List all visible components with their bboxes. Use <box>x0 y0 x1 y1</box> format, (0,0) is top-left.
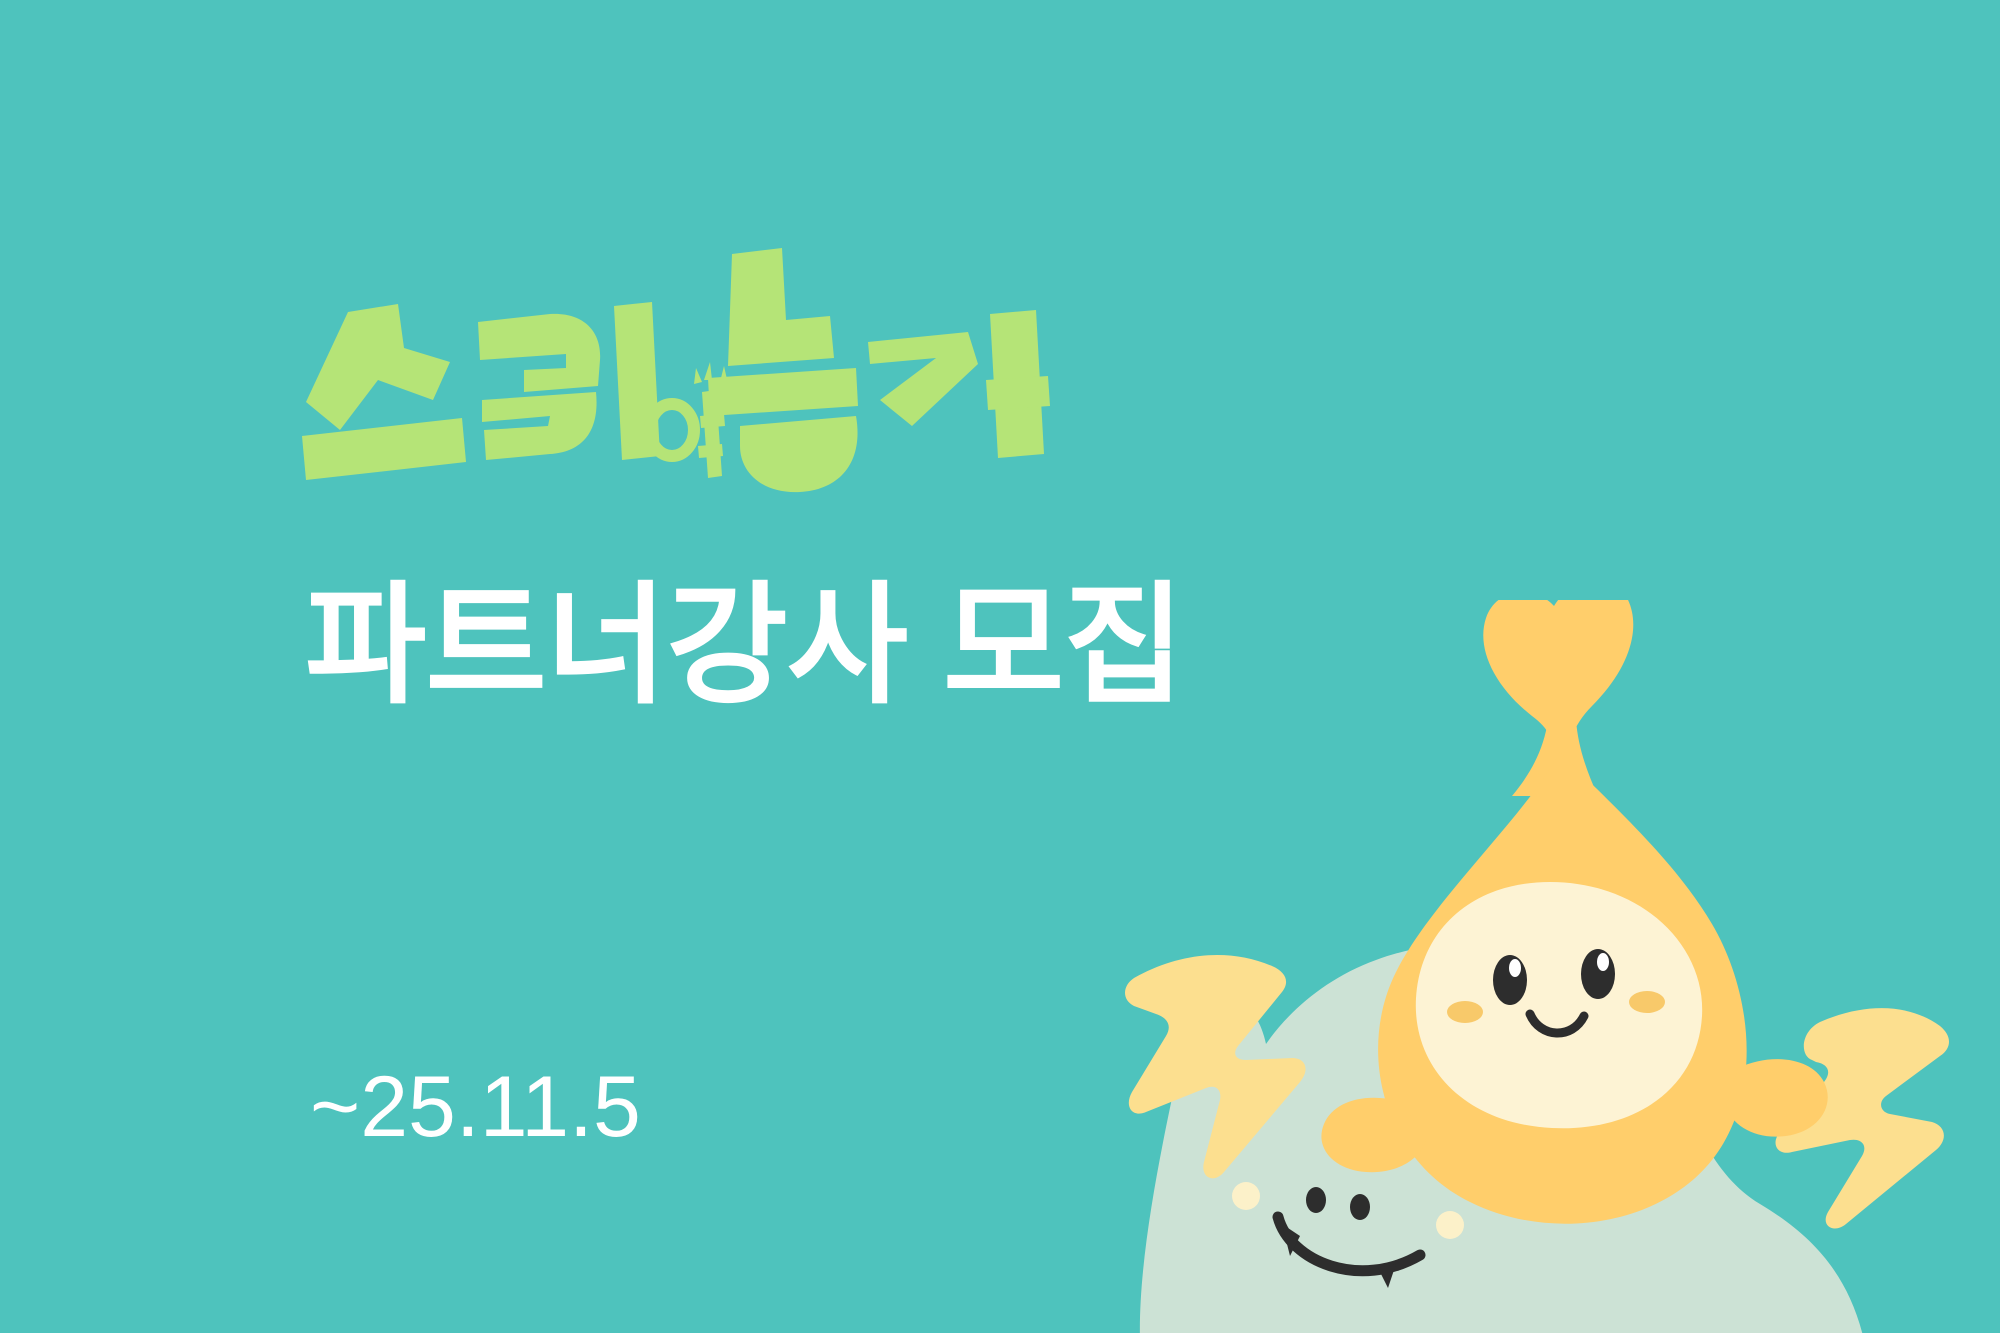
cheek <box>1436 1211 1464 1239</box>
brand-logo <box>300 240 1100 510</box>
cheek <box>1232 1182 1260 1210</box>
cheek <box>1447 1001 1483 1023</box>
poster-canvas: 파트너강사 모집 ~25.11.5 <box>0 0 2000 1333</box>
eye <box>1306 1187 1326 1213</box>
application-deadline: ~25.11.5 <box>310 1064 641 1150</box>
logo-glyphs <box>302 248 1050 492</box>
cheek <box>1629 991 1665 1013</box>
eye <box>1581 949 1615 999</box>
eye <box>1493 955 1527 1005</box>
mascot-illustration <box>1120 600 2000 1333</box>
page-title: 파트너강사 모집 <box>305 572 1184 720</box>
eye <box>1350 1194 1370 1220</box>
yellow-drop-mascot <box>1321 600 1827 1224</box>
